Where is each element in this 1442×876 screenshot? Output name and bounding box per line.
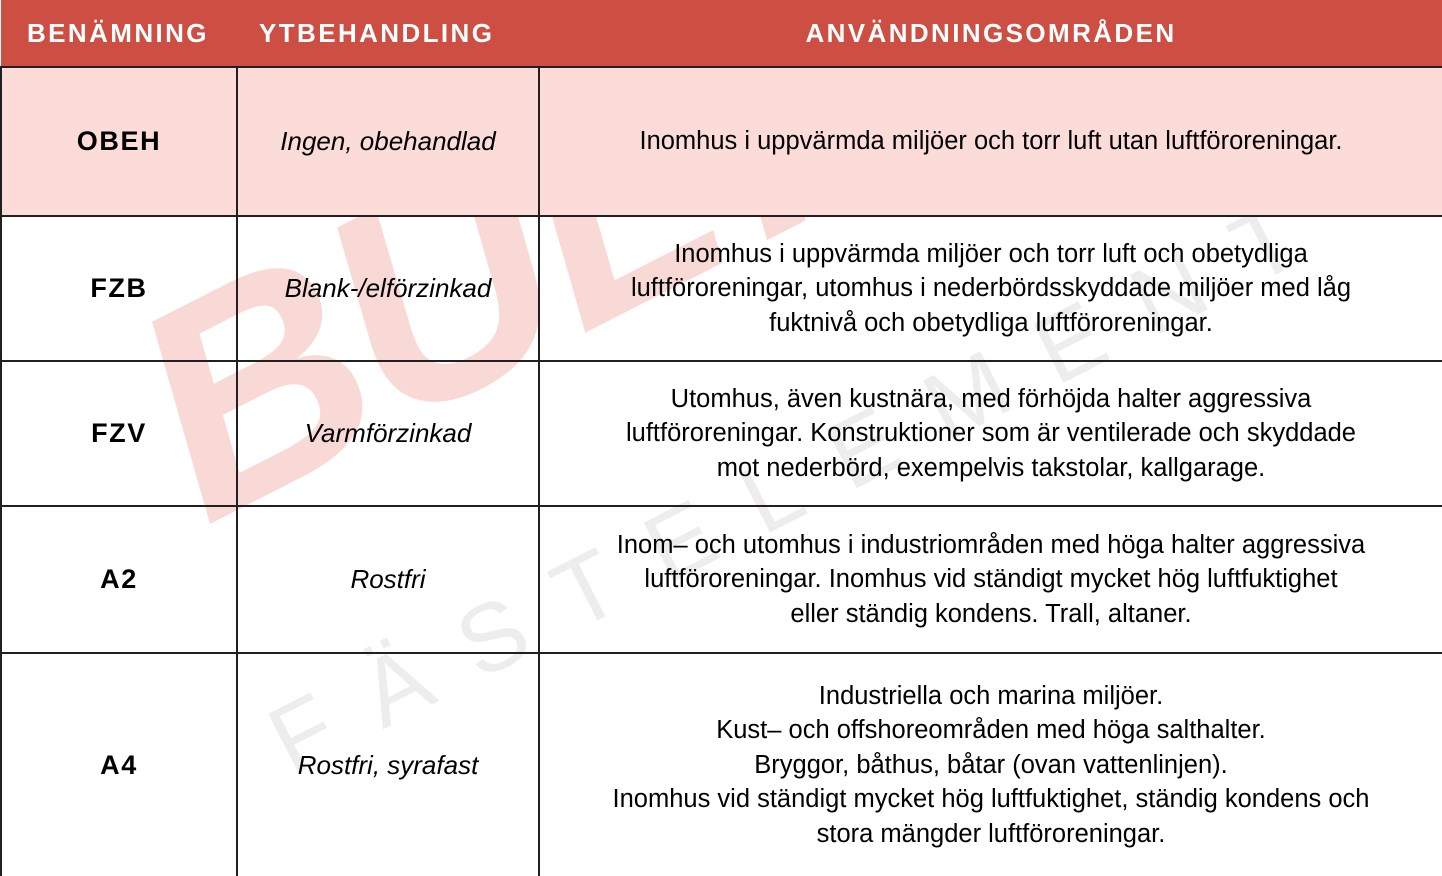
cell-anvandningsomraden: Inom– och utomhus i industriområden med … <box>539 506 1442 653</box>
cell-benamning: A4 <box>1 653 237 876</box>
description-line: Industriella och marina miljöer. <box>560 679 1422 713</box>
cell-benamning: FZV <box>1 361 237 506</box>
description-line: Bryggor, båthus, båtar (ovan vattenlinje… <box>560 748 1422 782</box>
description-line: eller ständig kondens. Trall, altaner. <box>560 597 1422 631</box>
surface-treatment-table: BENÄMNING YTBEHANDLING ANVÄNDNINGSOMRÅDE… <box>0 0 1442 876</box>
description-line: Inomhus vid ständigt mycket hög luftfukt… <box>560 782 1422 816</box>
table-header-row: BENÄMNING YTBEHANDLING ANVÄNDNINGSOMRÅDE… <box>1 0 1442 67</box>
table-row: FZV Varmförzinkad Utomhus, även kustnära… <box>1 361 1442 506</box>
table-row: A4 Rostfri, syrafast Industriella och ma… <box>1 653 1442 876</box>
description-line: luftföroreningar. Konstruktioner som är … <box>560 416 1422 450</box>
description-line: stora mängder luftföroreningar. <box>560 817 1422 851</box>
description-line: mot nederbörd, exempelvis takstolar, kal… <box>560 451 1422 485</box>
cell-anvandningsomraden: Inomhus i uppvärmda miljöer och torr luf… <box>539 67 1442 216</box>
table-row: A2 Rostfri Inom– och utomhus i industrio… <box>1 506 1442 653</box>
cell-ytbehandling: Rostfri <box>237 506 539 653</box>
description-line: Utomhus, även kustnära, med förhöjda hal… <box>560 382 1422 416</box>
cell-ytbehandling: Ingen, obehandlad <box>237 67 539 216</box>
description-line: Inom– och utomhus i industriområden med … <box>560 528 1422 562</box>
cell-benamning: FZB <box>1 216 237 361</box>
description-line: luftföroreningar, utomhus i nederbördssk… <box>560 271 1422 305</box>
cell-anvandningsomraden: Industriella och marina miljöer. Kust– o… <box>539 653 1442 876</box>
description-line: Inomhus i uppvärmda miljöer och torr luf… <box>560 237 1422 271</box>
table-container: BENÄMNING YTBEHANDLING ANVÄNDNINGSOMRÅDE… <box>0 0 1442 876</box>
description-line: Kust– och offshoreområden med höga salth… <box>560 713 1422 747</box>
table-header: BENÄMNING YTBEHANDLING ANVÄNDNINGSOMRÅDE… <box>1 0 1442 67</box>
cell-ytbehandling: Blank-/elförzinkad <box>237 216 539 361</box>
table-body: OBEH Ingen, obehandlad Inomhus i uppvärm… <box>1 67 1442 876</box>
cell-benamning: A2 <box>1 506 237 653</box>
cell-anvandningsomraden: Inomhus i uppvärmda miljöer och torr luf… <box>539 216 1442 361</box>
cell-ytbehandling: Varmförzinkad <box>237 361 539 506</box>
column-header-ytbehandling: YTBEHANDLING <box>237 0 539 67</box>
cell-ytbehandling: Rostfri, syrafast <box>237 653 539 876</box>
table-row: OBEH Ingen, obehandlad Inomhus i uppvärm… <box>1 67 1442 216</box>
table-row: FZB Blank-/elförzinkad Inomhus i uppvärm… <box>1 216 1442 361</box>
cell-benamning: OBEH <box>1 67 237 216</box>
surface-treatment-table-page: BULTAB FÄSTELEMENT BENÄMNING YTBEHANDLIN… <box>0 0 1442 876</box>
description-line: Inomhus i uppvärmda miljöer och torr luf… <box>560 124 1422 158</box>
description-line: fuktnivå och obetydliga luftföroreningar… <box>560 306 1422 340</box>
column-header-anvandningsomraden: ANVÄNDNINGSOMRÅDEN <box>539 0 1442 67</box>
cell-anvandningsomraden: Utomhus, även kustnära, med förhöjda hal… <box>539 361 1442 506</box>
column-header-benamning: BENÄMNING <box>1 0 237 67</box>
description-line: luftföroreningar. Inomhus vid ständigt m… <box>560 562 1422 596</box>
